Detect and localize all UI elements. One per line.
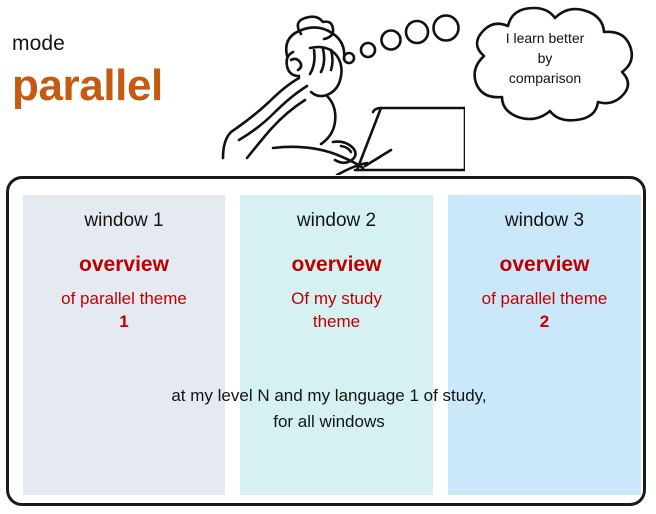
window-panel-3[interactable]: window 3 overview of parallel theme 2: [448, 195, 641, 495]
overview-label: overview: [448, 253, 641, 277]
overview-subtitle: Of my study theme: [240, 287, 433, 333]
overview-label: overview: [23, 253, 225, 277]
overview-subtitle: of parallel theme 2: [448, 287, 641, 333]
windows-container: window 1 overview of parallel theme 1 wi…: [6, 176, 646, 506]
mode-label: mode: [12, 32, 65, 56]
window-panel-1[interactable]: window 1 overview of parallel theme 1: [23, 195, 225, 495]
thought-bubble-text: I learn better by comparison: [455, 28, 635, 88]
bubble-line-1: I learn better: [455, 28, 635, 48]
window-title: window 2: [240, 209, 433, 233]
overview-number: 1: [23, 310, 225, 333]
overview-subtitle-text: of parallel theme: [61, 289, 187, 308]
overview-number: theme: [240, 310, 433, 333]
mode-value: parallel: [12, 64, 163, 108]
bubble-line-2: by: [455, 48, 635, 68]
overview-subtitle: of parallel theme 1: [23, 287, 225, 333]
window-title: window 3: [448, 209, 641, 233]
bubble-line-3: comparison: [455, 68, 635, 88]
window-panel-2[interactable]: window 2 overview Of my study theme: [240, 195, 433, 495]
window-title: window 1: [23, 209, 225, 233]
overview-subtitle-text: of parallel theme: [482, 289, 608, 308]
overview-number: 2: [448, 310, 641, 333]
overview-subtitle-text: Of my study: [291, 289, 382, 308]
overview-label: overview: [240, 253, 433, 277]
